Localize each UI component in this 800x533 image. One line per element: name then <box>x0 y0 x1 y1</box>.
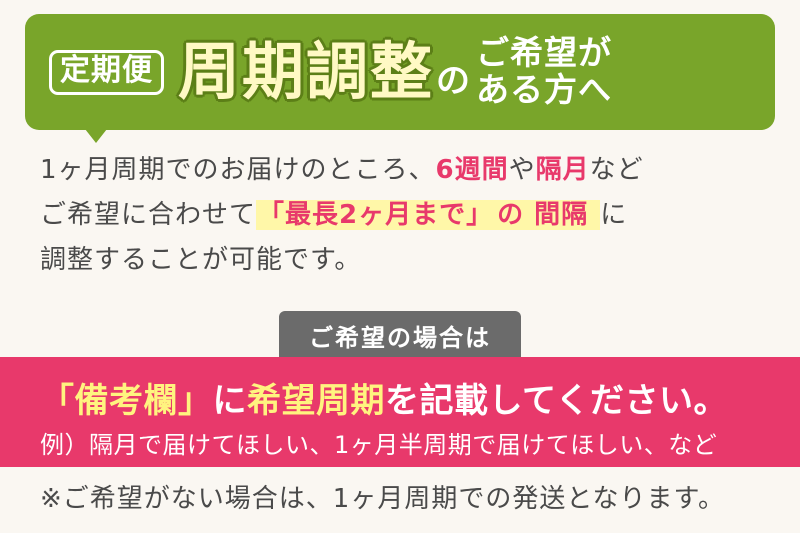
body-line-1-highlight-6weeks: 6週間 <box>436 155 509 185</box>
instruction-cycle-term: 希望周期 <box>247 381 385 421</box>
body-line-3: 調整することが可能です。 <box>40 238 770 283</box>
instruction-band: 「備考欄」に希望周期を記載してください。 例）隔月で届けてほしい、1ヶ月半周期で… <box>0 357 800 467</box>
body-line-2-highlight-max2months: 「最長2ヶ月まで」 <box>256 200 495 230</box>
body-line-1-part-c: や <box>509 155 536 185</box>
headline-subtext-line1: ご希望が <box>476 35 612 72</box>
body-line-1: 1ヶ月周期でのお届けのところ、6週間や隔月など <box>40 148 770 193</box>
promo-banner-page: 定期便 周期調整 の ご希望が ある方へ 1ヶ月周期でのお届けのところ、6週間や… <box>0 0 800 533</box>
banner-notch <box>85 129 107 143</box>
body-line-1-highlight-bimonthly: 隔月 <box>536 155 590 185</box>
headline-subtext: ご希望が ある方へ <box>476 35 612 109</box>
headline-subtext-line2: ある方へ <box>476 72 612 109</box>
subscription-tag: 定期便 <box>49 50 164 95</box>
instruction-headline: 「備考欄」に希望周期を記載してください。 <box>40 373 728 422</box>
body-line-1-part-e: など <box>590 155 644 185</box>
body-line-1-part-a: 1ヶ月周期でのお届けのところ、 <box>40 155 436 185</box>
instruction-field-name: 「備考欄」 <box>40 381 213 421</box>
header-banner: 定期便 周期調整 の ご希望が ある方へ <box>25 14 775 130</box>
body-line-2-highlight-interval: の 間隔 <box>495 200 600 230</box>
headline-particle: の <box>436 64 470 98</box>
body-line-2-part-a: ご希望に合わせて <box>40 200 256 230</box>
header-banner-content: 定期便 周期調整 の ご希望が ある方へ <box>25 14 775 130</box>
body-text-block: 1ヶ月周期でのお届けのところ、6週間や隔月など ご希望に合わせて「最長2ヶ月まで… <box>40 148 770 284</box>
request-ribbon-label: ご希望の場合は <box>279 311 521 362</box>
instruction-part-d: を記載してください。 <box>385 381 728 421</box>
instruction-example: 例）隔月で届けてほしい、1ヶ月半周期で届けてほしい、など <box>40 425 717 460</box>
body-line-2: ご希望に合わせて「最長2ヶ月まで」の 間隔 に <box>40 193 770 238</box>
body-line-2-part-d: に <box>600 200 627 230</box>
footnote-text: ※ご希望がない場合は、1ヶ月周期での発送となります。 <box>40 478 725 515</box>
instruction-part-b: に <box>213 381 248 421</box>
headline-main-text: 周期調整 <box>178 41 434 103</box>
